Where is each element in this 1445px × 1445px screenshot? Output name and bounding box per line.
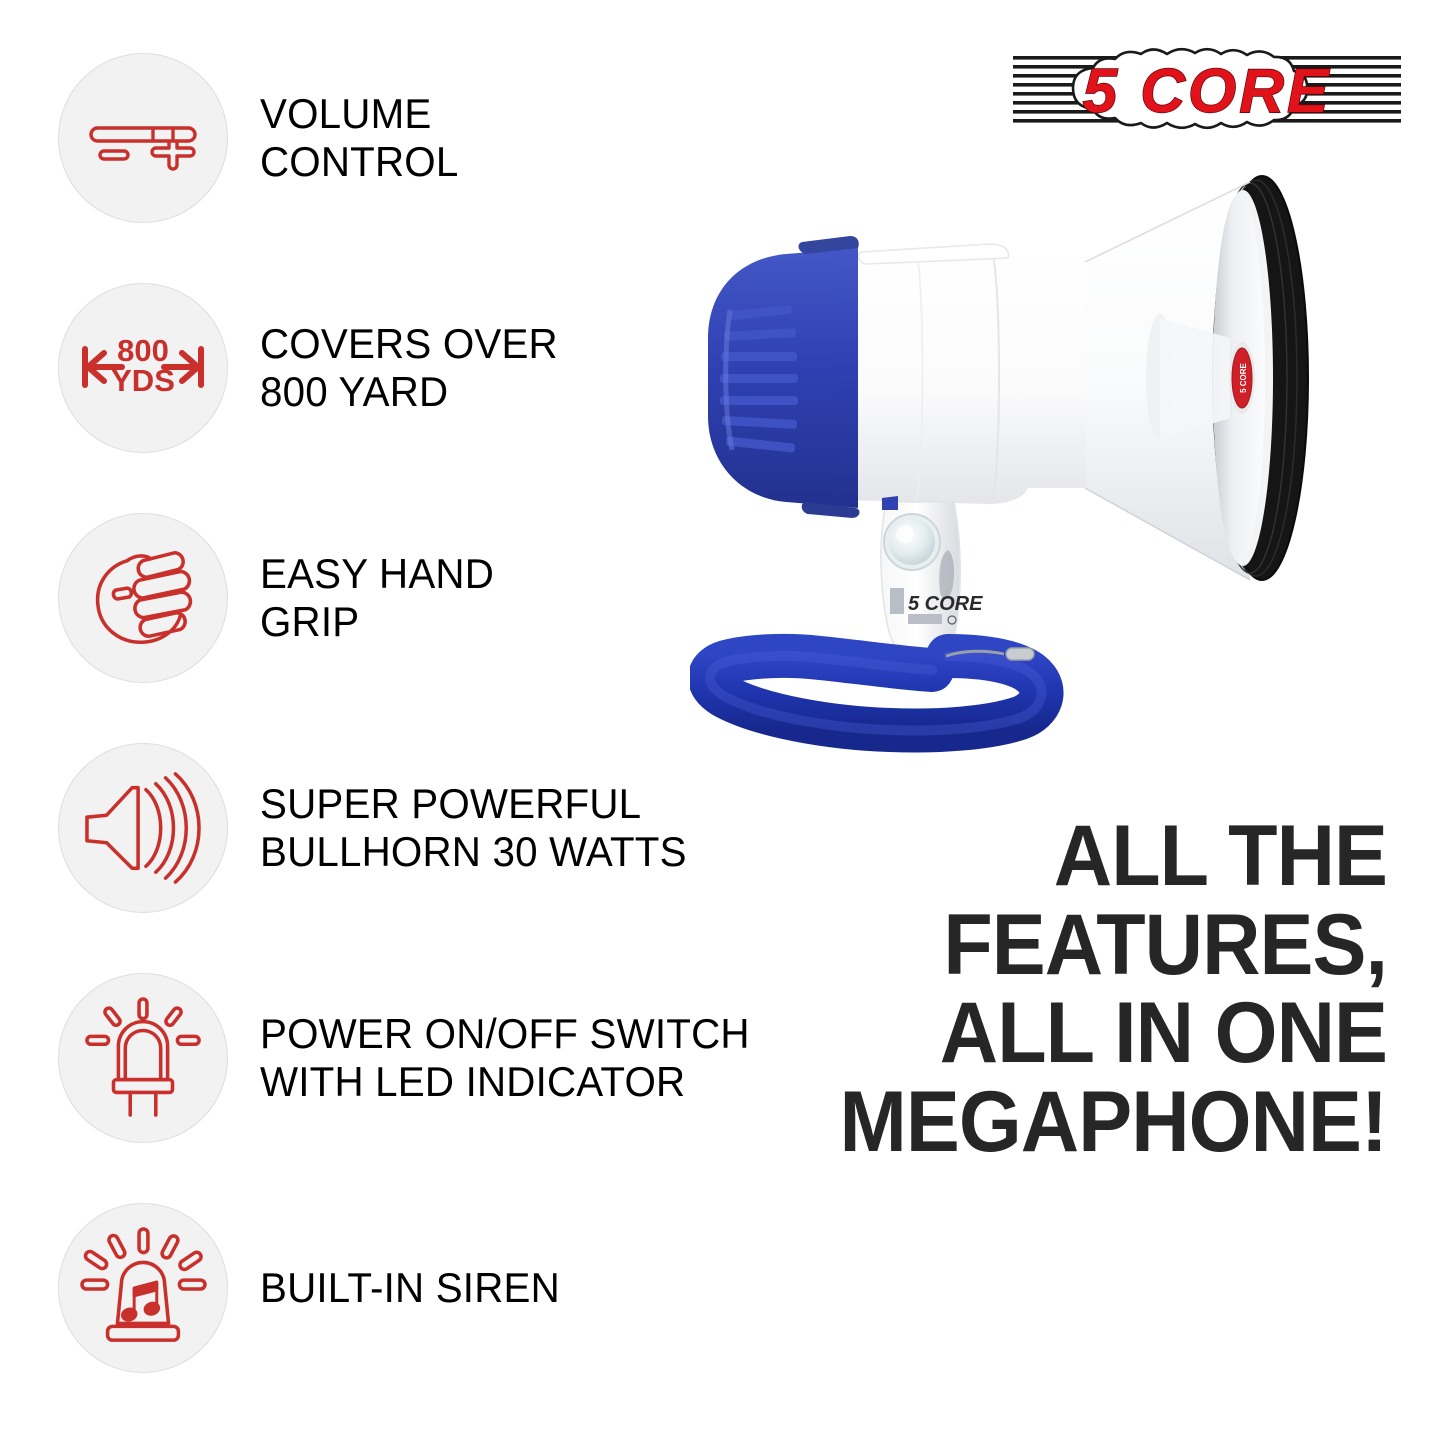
feature-label: VOLUME CONTROL <box>260 90 458 186</box>
feature-item-power-led: POWER ON/OFF SWITCH WITH LED INDICATOR <box>58 972 858 1144</box>
led-bulb-icon <box>58 973 228 1143</box>
volume-slider-icon <box>58 53 228 223</box>
headline-line-1: ALL THE <box>767 812 1387 901</box>
megaphone-product-image: 5 CORE <box>690 150 1435 800</box>
feature-label: POWER ON/OFF SWITCH WITH LED INDICATOR <box>260 1010 750 1106</box>
handle-brand-text: 5 CORE <box>908 593 983 615</box>
horn-center-badge: 5 CORE <box>1229 342 1255 414</box>
headline-line-4: MEGAPHONE! <box>767 1078 1387 1167</box>
distance-unit-text: YDS <box>111 363 175 398</box>
headline-line-2: FEATURES, <box>767 901 1387 990</box>
horn-bell: 5 CORE <box>1085 176 1308 580</box>
feature-label: COVERS OVER 800 YARD <box>260 320 558 416</box>
horn-badge-text: 5 CORE <box>1239 362 1248 392</box>
hand-grip-icon <box>58 513 228 683</box>
logo-wordmark: 5 CORE <box>1083 57 1332 126</box>
feature-label: BUILT-IN SIREN <box>260 1264 560 1312</box>
speaker-horn-waves-icon <box>58 743 228 913</box>
megaphone-body <box>830 244 1086 504</box>
headline-line-3: ALL IN ONE <box>767 989 1387 1078</box>
carry-strap <box>710 648 1042 731</box>
rear-blue-housing <box>708 236 859 518</box>
siren-music-icon <box>58 1203 228 1373</box>
handle-button <box>884 514 940 570</box>
brand-logo: 5 CORE <box>1011 38 1403 136</box>
distance-800-yds-icon: 800 YDS <box>58 283 228 453</box>
feature-label: SUPER POWERFUL BULLHORN 30 WATTS <box>260 780 687 876</box>
headline: ALL THE FEATURES, ALL IN ONE MEGAPHONE! <box>767 812 1387 1166</box>
feature-item-built-in-siren: BUILT-IN SIREN <box>58 1202 858 1374</box>
feature-label: EASY HAND GRIP <box>260 550 494 646</box>
